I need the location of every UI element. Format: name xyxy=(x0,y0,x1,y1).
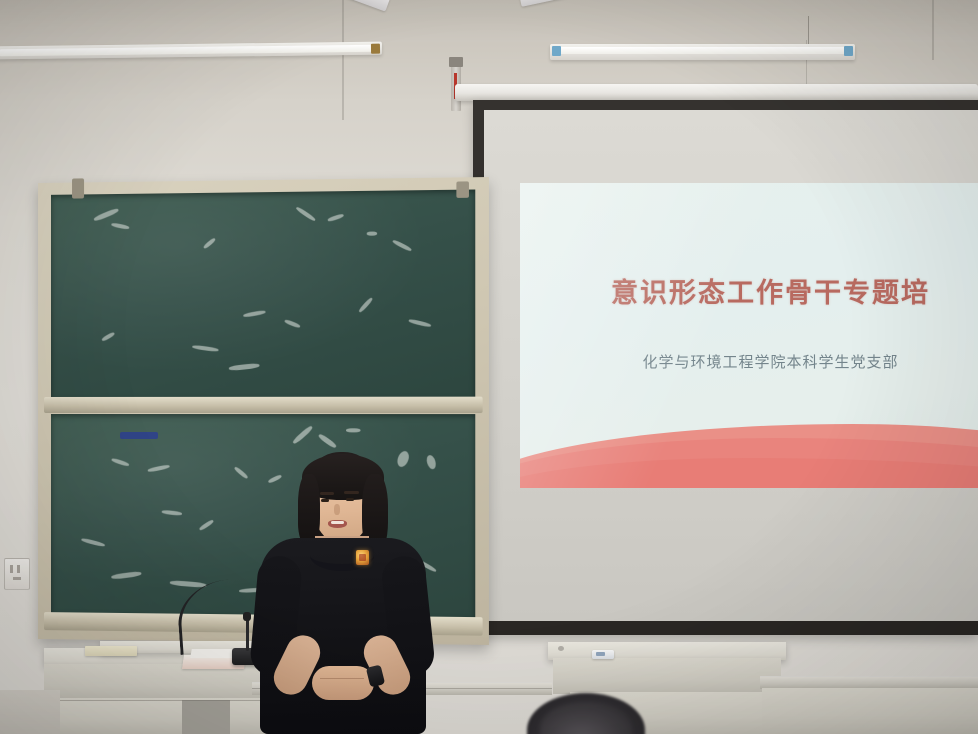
outlet-slot xyxy=(17,565,20,573)
chalk-mark xyxy=(111,222,130,230)
presenter-eye-right xyxy=(346,498,354,501)
chalk-mark xyxy=(408,318,431,327)
chalk-mark xyxy=(318,433,338,449)
wall-seam-mid xyxy=(932,0,934,60)
chalk-mark xyxy=(147,464,170,472)
presenter-eyebrow-right xyxy=(344,491,359,494)
lamp-end-cap xyxy=(552,46,561,56)
blackboard-upper-panel xyxy=(51,190,475,398)
chalk-mark xyxy=(234,466,249,480)
chalk-mark xyxy=(229,363,260,371)
chalk-mark xyxy=(284,319,301,329)
chalk-mark xyxy=(327,213,344,222)
screen-roller-housing xyxy=(455,84,978,101)
chalk-mark xyxy=(358,297,374,313)
projector-remote-control[interactable] xyxy=(592,650,614,659)
presenter-finger-line xyxy=(320,678,364,679)
microphone-capsule xyxy=(243,612,251,621)
presenter-clasped-hands xyxy=(312,666,374,700)
blackboard-clip xyxy=(72,178,84,198)
presenter-eye-left xyxy=(321,499,329,502)
presenter-teeth xyxy=(331,521,344,524)
chalk-mark xyxy=(101,331,115,342)
notebook-on-podium[interactable] xyxy=(85,646,137,656)
chalk-mark xyxy=(367,232,377,236)
presenter-eyebrow-left xyxy=(320,492,334,495)
lamp-end-cap xyxy=(371,44,380,54)
projection-screen: 意识形态工作骨干专题培 化学与环境工程学院本科学生党支部 xyxy=(473,100,978,635)
chalk-tray-marker[interactable] xyxy=(120,432,158,439)
blackboard-clip xyxy=(456,181,469,198)
wall-baseboard xyxy=(0,690,60,734)
lamp-hanger xyxy=(808,16,809,44)
desk-fitting xyxy=(558,646,564,651)
lamp-end-cap xyxy=(844,46,853,56)
chalk-mark xyxy=(192,345,219,353)
slide-title: 意识形态工作骨干专题培 xyxy=(520,271,978,310)
chalk-mark xyxy=(346,428,360,432)
fluorescent-lamp-right xyxy=(550,44,855,60)
chalk-mark xyxy=(243,310,266,318)
chalk-mark xyxy=(162,510,183,516)
outlet-slot xyxy=(13,577,21,580)
ceiling xyxy=(0,0,978,42)
side-desk-front xyxy=(553,658,781,694)
lamp-tube xyxy=(554,47,851,54)
chalk-mark xyxy=(81,537,105,547)
chalk-mark xyxy=(111,458,130,467)
bracket-knob xyxy=(449,57,463,67)
chalk-mark xyxy=(199,519,215,531)
party-emblem-badge xyxy=(356,550,369,565)
chalk-mark xyxy=(93,207,119,222)
projected-slide: 意识形态工作骨干专题培 化学与环境工程学院本科学生党支部 xyxy=(520,183,978,488)
presenter-nose xyxy=(334,504,340,515)
blackboard-divider-rail xyxy=(44,397,483,413)
wall-seam-left xyxy=(342,0,344,120)
classroom-photo: 意识形态工作骨干专题培 化学与环境工程学院本科学生党支部 xyxy=(0,0,978,734)
chalk-mark xyxy=(203,237,217,249)
far-desk-front xyxy=(762,688,978,734)
outlet-slot xyxy=(10,565,13,573)
slide-subtitle: 化学与环境工程学院本科学生党支部 xyxy=(520,351,978,372)
wall-outlet[interactable] xyxy=(4,558,30,590)
chalk-mark xyxy=(392,239,412,252)
podium-lower-body xyxy=(58,698,276,734)
podium-drawer-seam xyxy=(44,700,289,701)
screen-surface: 意识形态工作骨干专题培 化学与环境工程学院本科学生党支部 xyxy=(484,110,978,621)
microphone-stem xyxy=(246,617,249,651)
chalk-mark xyxy=(292,425,314,445)
chalk-mark xyxy=(111,571,142,580)
chalk-mark xyxy=(295,206,316,222)
remote-button[interactable] xyxy=(596,652,605,656)
podium-cabinet-gap xyxy=(182,700,230,734)
presenter xyxy=(258,452,428,734)
